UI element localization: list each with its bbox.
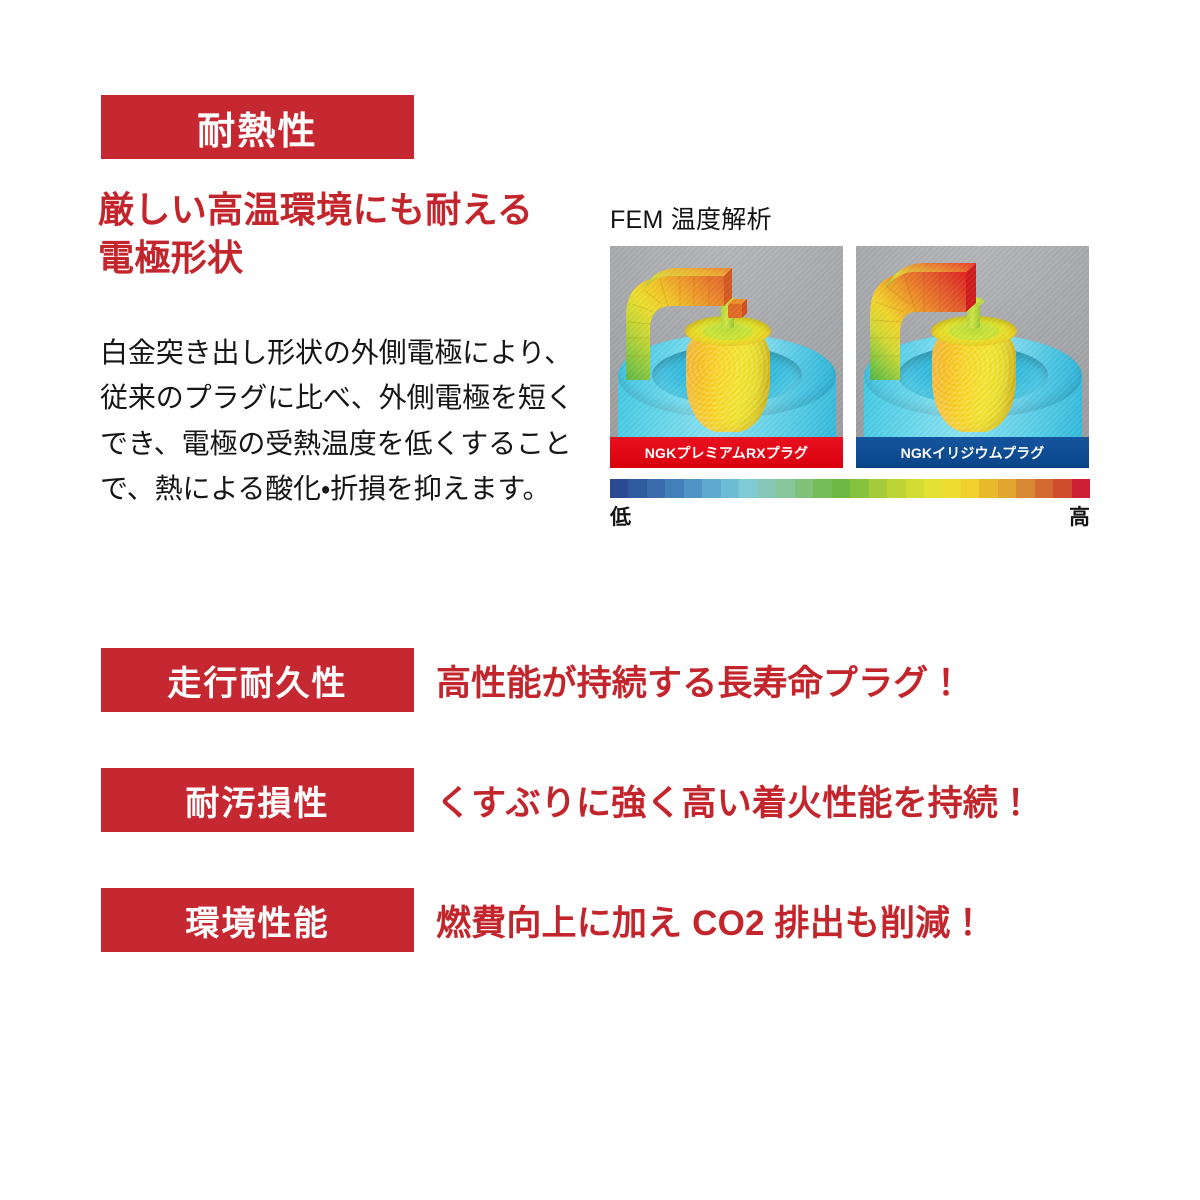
feature-row: 走行耐久性 高性能が持続する長寿命プラグ！ xyxy=(101,648,1061,712)
scale-segment-25 xyxy=(1072,479,1090,498)
feature-description: 燃費向上に加え CO2 排出も削減！ xyxy=(436,895,986,946)
scale-segment-10 xyxy=(795,479,813,498)
fem-panel-premium-rx: NGKプレミアムRXプラグ xyxy=(610,246,843,468)
ground-electrode-iridium-icon xyxy=(866,260,1006,388)
scale-segment-7 xyxy=(739,479,757,498)
scale-segment-6 xyxy=(721,479,739,498)
scale-segment-11 xyxy=(813,479,831,498)
fem-panel-group: NGKプレミアムRXプラグ xyxy=(610,246,1090,468)
heat-body-line-1: 白金突き出し形状の外側電極により、 xyxy=(100,330,580,375)
fem-panel-iridium: NGKイリジウムプラグ xyxy=(856,246,1089,468)
scale-segment-21 xyxy=(998,479,1016,498)
scale-segment-5 xyxy=(702,479,720,498)
fem-colour-scale-labels: 低 高 xyxy=(610,501,1090,531)
feature-badge-label: 環境性能 xyxy=(185,896,329,945)
scale-segment-4 xyxy=(684,479,702,498)
scale-segment-8 xyxy=(758,479,776,498)
feature-badge-fouling-resistance: 耐汚損性 xyxy=(101,768,414,832)
scale-segment-0 xyxy=(610,479,628,498)
scale-segment-19 xyxy=(961,479,979,498)
ground-electrode-premium-rx-icon xyxy=(620,260,760,388)
heat-resistance-badge-label: 耐熱性 xyxy=(197,100,318,155)
scale-segment-20 xyxy=(979,479,997,498)
feature-description: くすぶりに強く高い着火性能を持続！ xyxy=(436,775,1033,826)
feature-badge-label: 耐汚損性 xyxy=(185,776,329,825)
heat-body-line-2: 従来のプラグに比べ、外側電極を短く xyxy=(100,375,580,420)
scale-segment-9 xyxy=(776,479,794,498)
fem-colour-scale-bar xyxy=(610,479,1090,498)
scale-segment-12 xyxy=(832,479,850,498)
fem-caption-premium-rx: NGKプレミアムRXプラグ xyxy=(610,437,843,468)
fem-colour-scale: 低 高 xyxy=(610,479,1090,531)
heat-headline-line-2: 電極形状 xyxy=(98,234,568,282)
scale-segment-3 xyxy=(665,479,683,498)
scale-segment-15 xyxy=(887,479,905,498)
scale-high-label: 高 xyxy=(1069,501,1090,531)
heat-headline-line-1: 厳しい高温環境にも耐える xyxy=(98,186,568,234)
feature-description: 高性能が持続する長寿命プラグ！ xyxy=(436,655,964,706)
scale-low-label: 低 xyxy=(610,501,631,531)
fem-analysis-title: FEM 温度解析 xyxy=(610,200,1090,236)
heat-resistance-badge: 耐熱性 xyxy=(101,95,414,159)
scale-segment-2 xyxy=(647,479,665,498)
feature-badge-environmental-performance: 環境性能 xyxy=(101,888,414,952)
fem-render-premium-rx xyxy=(610,246,843,468)
scale-segment-13 xyxy=(850,479,868,498)
scale-segment-23 xyxy=(1035,479,1053,498)
feature-badge-label: 走行耐久性 xyxy=(167,656,347,705)
fem-analysis-block: FEM 温度解析 xyxy=(610,200,1090,531)
heat-resistance-body-text: 白金突き出し形状の外側電極により、 従来のプラグに比べ、外側電極を短く でき、電… xyxy=(100,330,580,511)
heat-body-line-3: でき、電極の受熱温度を低くすること xyxy=(100,421,580,466)
feature-row: 環境性能 燃費向上に加え CO2 排出も削減！ xyxy=(101,888,1061,952)
feature-row: 耐汚損性 くすぶりに強く高い着火性能を持続！ xyxy=(101,768,1061,832)
scale-segment-24 xyxy=(1053,479,1071,498)
fem-caption-iridium: NGKイリジウムプラグ xyxy=(856,437,1089,468)
scale-segment-18 xyxy=(942,479,960,498)
feature-badge-driving-durability: 走行耐久性 xyxy=(101,648,414,712)
fem-caption-iridium-text: NGKイリジウムプラグ xyxy=(901,443,1045,463)
scale-segment-1 xyxy=(628,479,646,498)
scale-segment-14 xyxy=(869,479,887,498)
fem-caption-premium-rx-text: NGKプレミアムRXプラグ xyxy=(645,443,808,463)
scale-segment-22 xyxy=(1016,479,1034,498)
scale-segment-16 xyxy=(906,479,924,498)
heat-resistance-headline: 厳しい高温環境にも耐える 電極形状 xyxy=(98,186,568,281)
scale-segment-17 xyxy=(924,479,942,498)
fem-render-iridium xyxy=(856,246,1089,468)
heat-body-line-4: で、熱による酸化・折損を抑えます。 xyxy=(100,466,580,511)
